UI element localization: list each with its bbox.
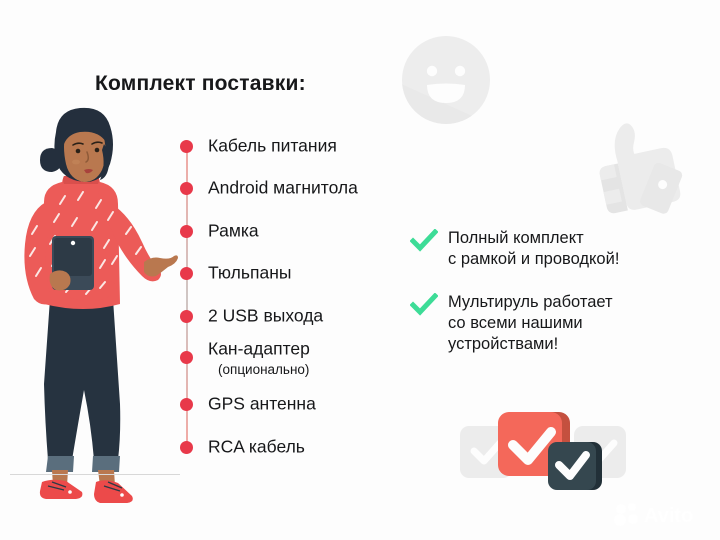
delivery-kit-list: Кабель питания Android магнитола Рамка Т… (178, 130, 438, 460)
benefit-line: устройствами! (448, 334, 710, 355)
check-mark-icon (410, 229, 438, 253)
benefit-item: Мультируль работает со всеми нашими устр… (410, 292, 710, 355)
list-item-label: Кабель питания (208, 136, 337, 157)
list-item-label: Android магнитола (208, 178, 358, 199)
list-item-label: Тюльпаны (208, 263, 291, 284)
list-item-label: GPS антенна (208, 394, 316, 415)
benefits-block: Полный комплект с рамкой и проводкой! Му… (410, 228, 710, 370)
checkbox-group-icon (458, 404, 628, 496)
avito-watermark: Avito (612, 500, 712, 528)
list-item-label: Рамка (208, 221, 259, 242)
benefit-line: Мультируль работает (448, 292, 710, 313)
smiley-face-icon (399, 33, 494, 128)
list-item-label: RCA кабель (208, 437, 305, 458)
woman-pointing-illustration (8, 104, 183, 504)
benefit-line: с рамкой и проводкой! (448, 249, 710, 270)
list-item-label: Кан-адаптер (208, 339, 310, 360)
benefit-line: со всеми нашими (448, 313, 710, 334)
thumbs-up-icon (575, 112, 695, 222)
ground-line (10, 474, 180, 475)
benefit-line: Полный комплект (448, 228, 710, 249)
benefit-item: Полный комплект с рамкой и проводкой! (410, 228, 710, 270)
avito-wordmark: Avito (644, 505, 693, 527)
check-mark-icon (410, 293, 438, 317)
list-item-sublabel: (опционально) (218, 362, 309, 377)
page-title: Комплект поставки: (95, 72, 306, 96)
poster-canvas: Комплект поставки: Кабель питания Androi… (0, 0, 720, 540)
list-item-label: 2 USB выхода (208, 306, 323, 327)
